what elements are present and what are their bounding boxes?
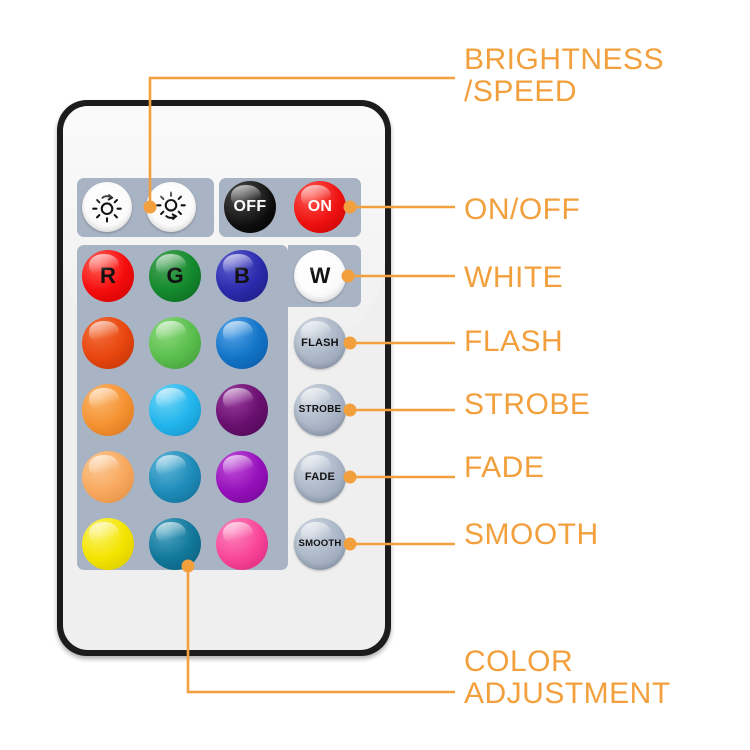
red-button-label: R	[100, 265, 116, 287]
color-pink-swatch[interactable]	[216, 518, 268, 570]
smooth-button-label: SMOOTH	[299, 539, 342, 549]
callout-label-smooth: SMOOTH	[464, 519, 599, 551]
fade-button[interactable]: FADE	[294, 451, 346, 503]
callout-label-strobe: STROBE	[464, 389, 590, 421]
color-azure-swatch[interactable]	[216, 317, 268, 369]
green-button[interactable]: G	[149, 250, 201, 302]
fade-button-label: FADE	[305, 472, 335, 483]
blue-button[interactable]: B	[216, 250, 268, 302]
color-dark-teal-swatch[interactable]	[149, 518, 201, 570]
off-button-label: OFF	[234, 199, 267, 215]
color-yellow-swatch[interactable]	[82, 518, 134, 570]
green-button-label: G	[166, 265, 183, 287]
off-button[interactable]: OFF	[224, 181, 276, 233]
on-button[interactable]: ON	[294, 181, 346, 233]
sun-arrow-up-icon	[90, 190, 124, 224]
color-dark-purple-swatch[interactable]	[216, 384, 268, 436]
on-button-label: ON	[308, 199, 333, 215]
smooth-button[interactable]: SMOOTH	[294, 518, 346, 570]
callout-label-brightness-speed: BRIGHTNESS /SPEED	[464, 44, 664, 109]
strobe-button-label: STROBE	[299, 405, 342, 415]
diagram-canvas: OFF ON R G B W FLASH STROBE FADE SMOOTH	[0, 0, 750, 750]
color-light-green-swatch[interactable]	[149, 317, 201, 369]
color-light-orange-swatch[interactable]	[82, 451, 134, 503]
blue-button-label: B	[234, 265, 250, 287]
callout-label-color-adjustment: COLOR ADJUSTMENT	[464, 646, 671, 711]
color-teal-blue-swatch[interactable]	[149, 451, 201, 503]
flash-button[interactable]: FLASH	[294, 317, 346, 369]
white-button-label: W	[310, 265, 331, 287]
callout-label-flash: FLASH	[464, 326, 563, 358]
brightness-up-button[interactable]	[82, 182, 132, 232]
brightness-down-button[interactable]	[146, 182, 196, 232]
red-button[interactable]: R	[82, 250, 134, 302]
color-orange-swatch[interactable]	[82, 384, 134, 436]
callout-label-on-off: ON/OFF	[464, 194, 580, 226]
callout-label-fade: FADE	[464, 452, 544, 484]
color-cyan-swatch[interactable]	[149, 384, 201, 436]
flash-button-label: FLASH	[301, 338, 339, 349]
color-orange-red-swatch[interactable]	[82, 317, 134, 369]
white-button[interactable]: W	[294, 250, 346, 302]
sun-arrow-down-icon	[154, 190, 188, 224]
callout-label-white: WHITE	[464, 262, 563, 294]
color-purple-swatch[interactable]	[216, 451, 268, 503]
strobe-button[interactable]: STROBE	[294, 384, 346, 436]
